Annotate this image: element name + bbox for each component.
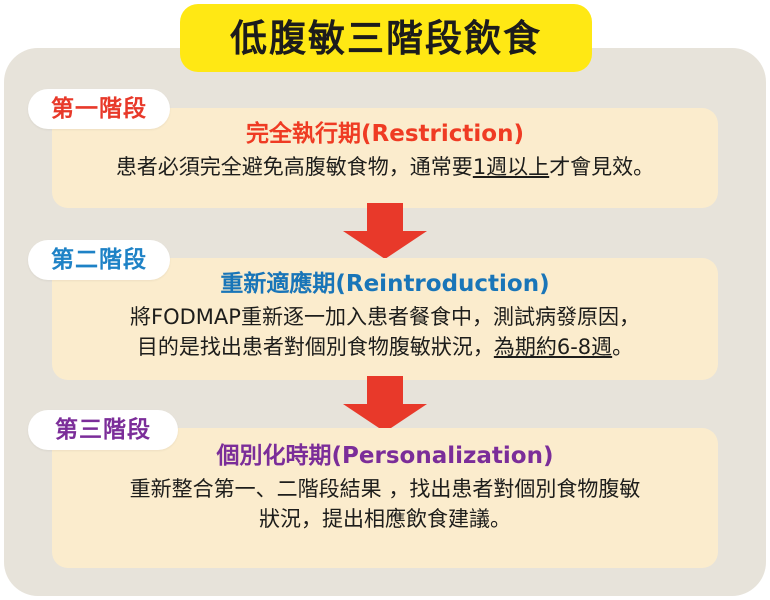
stage-2-body-pre: 目的是找出患者對個別食物腹敏狀況， xyxy=(137,335,494,359)
stage-2-body-post: 。 xyxy=(612,335,633,359)
stage-1-body-post: 才會見效。 xyxy=(549,155,654,179)
stage-1-pill-label: 第一階段 xyxy=(51,98,147,121)
stage-2-body-line-1: 將FODMAP重新逐一加入患者餐食中，測試病發原因， xyxy=(52,303,718,333)
stage-1-pill: 第一階段 xyxy=(28,89,170,129)
stage-2-body-line-2: 目的是找出患者對個別食物腹敏狀況，為期約6-8週。 xyxy=(52,333,718,363)
stage-1-body-pre: 患者必須完全避免高腹敏食物，通常要 xyxy=(116,155,473,179)
stage-3-pill-label: 第三階段 xyxy=(55,419,151,442)
stage-3-body-line-2: 狀況，提出相應飲食建議。 xyxy=(52,505,718,535)
infographic-root: 低腹敏三階段飲食 完全執行期(Restriction) 患者必須完全避免高腹敏食… xyxy=(0,0,770,600)
stage-3-body: 重新整合第一、二階段結果 ，找出患者對個別食物腹敏 狀況，提出相應飲食建議。 xyxy=(52,475,718,535)
stage-1-body: 患者必須完全避免高腹敏食物，通常要1週以上才會見效。 xyxy=(52,153,718,183)
page-title: 低腹敏三階段飲食 xyxy=(230,20,542,57)
stage-3-body-line-1: 重新整合第一、二階段結果 ，找出患者對個別食物腹敏 xyxy=(52,475,718,505)
stage-1-body-underline: 1週以上 xyxy=(473,155,549,179)
stage-2-body-underline: 為期約6-8週 xyxy=(494,335,612,359)
down-arrow-icon-1 xyxy=(339,203,431,259)
stage-2-pill-label: 第二階段 xyxy=(51,249,147,272)
title-badge: 低腹敏三階段飲食 xyxy=(180,4,592,72)
stage-2-pill: 第二階段 xyxy=(28,240,170,280)
stage-3-pill: 第三階段 xyxy=(28,410,178,450)
down-arrow-icon-2 xyxy=(339,376,431,432)
stage-2-body: 將FODMAP重新逐一加入患者餐食中，測試病發原因， 目的是找出患者對個別食物腹… xyxy=(52,303,718,363)
